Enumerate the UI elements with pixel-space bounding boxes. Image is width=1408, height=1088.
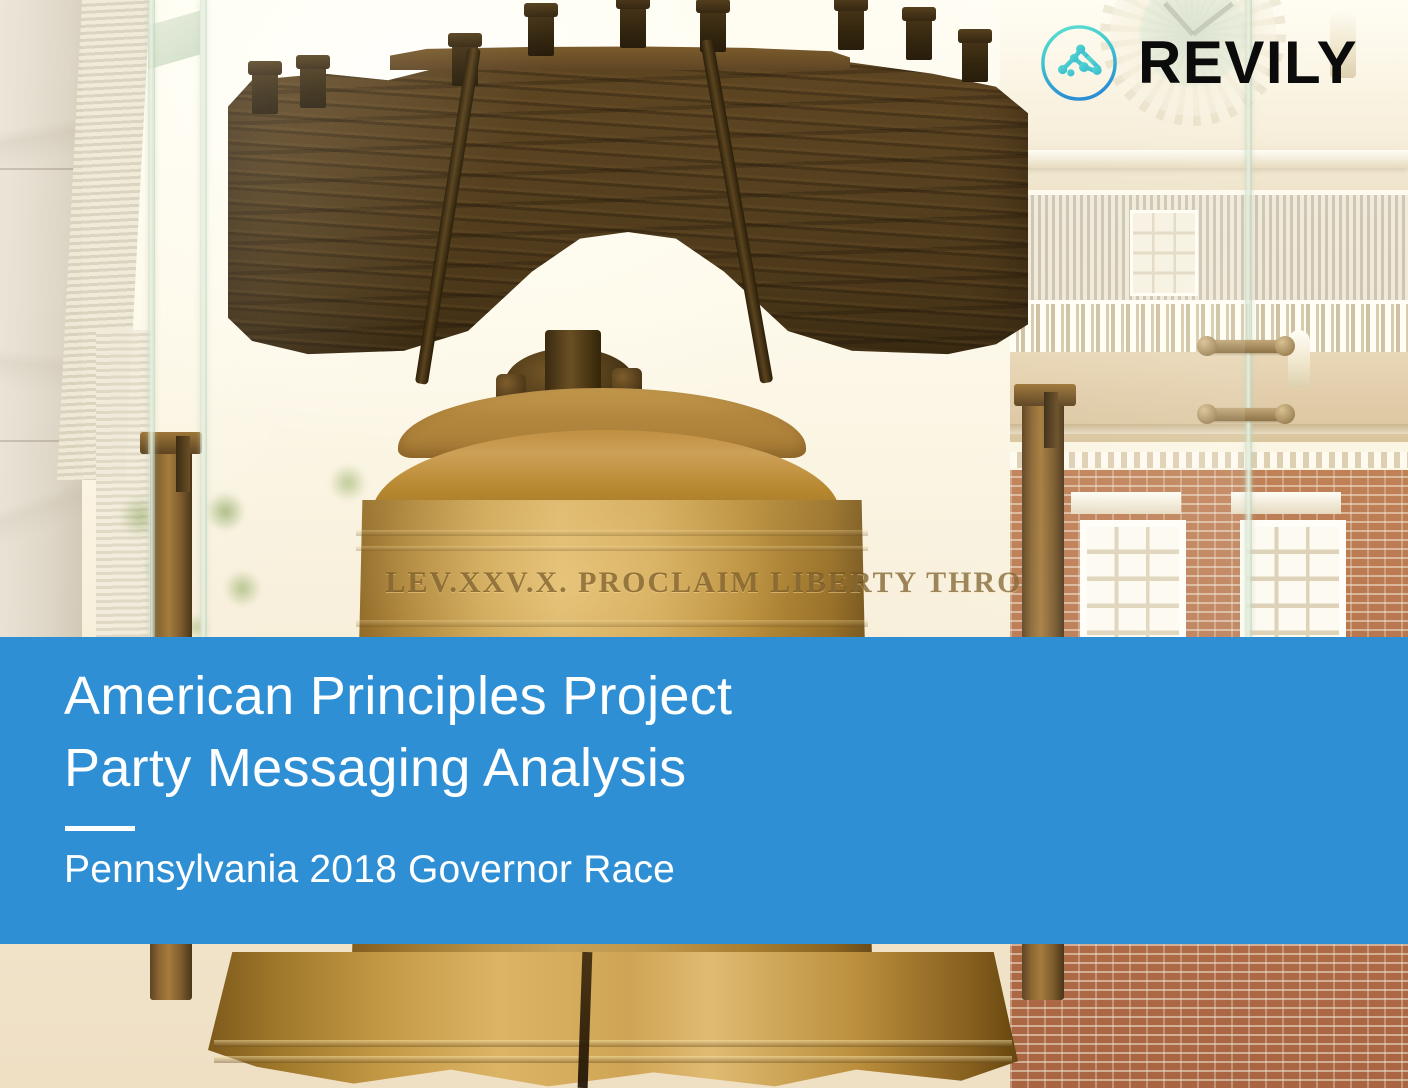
bell-lip-ring	[214, 1056, 1012, 1063]
yoke-bolt	[906, 14, 932, 60]
yoke-bolt	[962, 36, 988, 82]
bell-post-bracket-right	[1044, 392, 1058, 448]
yoke-bolt	[620, 2, 646, 48]
hall-shaded-wall	[1010, 195, 1408, 315]
cover-title-line-2: Party Messaging Analysis	[64, 733, 1368, 805]
yoke-bolt	[252, 68, 278, 114]
revily-logo[interactable]: REVILY	[1038, 22, 1358, 104]
hall-window-pediment	[1071, 492, 1181, 514]
title-divider-rule	[65, 826, 135, 831]
hall-cornice	[1000, 150, 1408, 168]
bell-lip-ring	[214, 1040, 1012, 1047]
hall-dentil-moulding	[1010, 452, 1408, 468]
glass-mullion	[148, 0, 155, 640]
glass-door-hinge	[1203, 340, 1289, 353]
liberty-bell-lip	[208, 952, 1018, 1088]
hall-roof-edge	[1010, 424, 1408, 434]
revily-wordmark: REVILY	[1138, 33, 1358, 93]
bell-moulding-ring	[356, 546, 868, 551]
yoke-bolt	[528, 10, 554, 56]
cover-subtitle: Pennsylvania 2018 Governor Race	[64, 847, 1368, 894]
yoke-bolt	[838, 4, 864, 50]
report-cover-page: LEV.XXV.X. PROCLAIM LIBERTY THRO ED PHIL…	[0, 0, 1408, 1088]
bell-moulding-ring	[356, 620, 868, 627]
yoke-bolt	[300, 62, 326, 108]
bell-post-bracket-left	[176, 436, 190, 492]
glass-door-hinge	[1203, 408, 1289, 421]
hall-upper-window	[1130, 210, 1198, 296]
glass-mullion	[200, 0, 207, 640]
revily-network-circle-logo-icon	[1038, 22, 1120, 104]
bell-moulding-ring	[356, 530, 868, 536]
cover-title-line-1: American Principles Project	[64, 661, 1368, 733]
title-banner-content: American Principles Project Party Messag…	[64, 661, 1368, 893]
title-banner: American Principles Project Party Messag…	[0, 637, 1408, 944]
